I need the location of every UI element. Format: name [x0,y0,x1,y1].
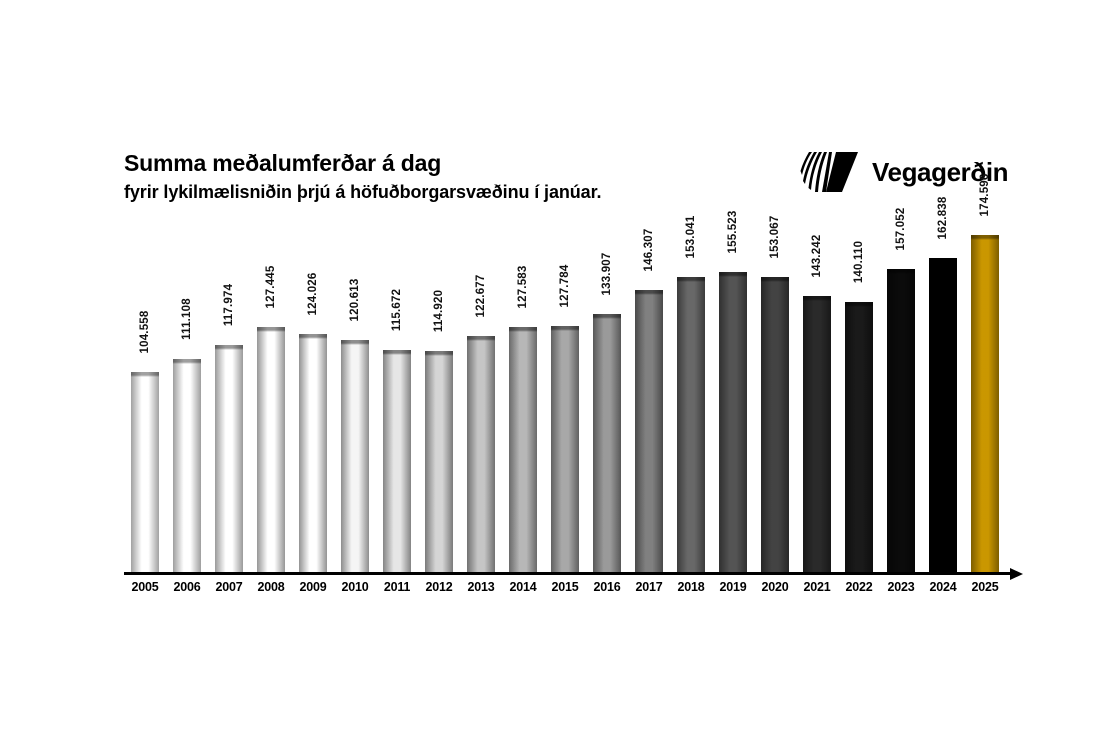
x-axis-label-2013: 2013 [460,580,502,594]
bar-value-label-2014: 127.583 [517,266,529,309]
x-axis-label-2019: 2019 [712,580,754,594]
bar-2013 [467,336,495,575]
bar-value-label-2011: 115.672 [391,289,403,331]
x-axis-label-2022: 2022 [838,580,880,594]
bar-group-2009: 124.026 [292,215,334,575]
bar-value-label-2016: 133.907 [601,253,613,296]
bar-value-label-2006: 111.108 [181,298,193,340]
bar-2007 [215,345,243,575]
x-axis-label-2017: 2017 [628,580,670,594]
bar-2009 [299,334,327,575]
bar-2022 [845,302,873,575]
chart-subtitle: fyrir lykilmælisniðin þrjú á höfuðborgar… [124,180,824,204]
bar-2012 [425,351,453,575]
bar-group-2014: 127.583 [502,215,544,575]
bar-2019 [719,272,747,575]
x-axis-label-2007: 2007 [208,580,250,594]
x-axis-label-2024: 2024 [922,580,964,594]
bar-group-2023: 157.052 [880,215,922,575]
x-axis-label-2016: 2016 [586,580,628,594]
bar-group-2008: 127.445 [250,215,292,575]
bar-2024 [929,258,957,575]
bar-group-2016: 133.907 [586,215,628,575]
bar-value-label-2015: 127.784 [559,265,571,308]
bar-value-label-2010: 120.613 [349,279,361,322]
bar-value-label-2005: 104.558 [139,311,151,354]
bar-group-2022: 140.110 [838,215,880,575]
x-axis-label-2009: 2009 [292,580,334,594]
bar-value-label-2017: 146.307 [643,229,655,272]
bar-2010 [341,340,369,575]
bar-value-label-2018: 153.041 [685,216,697,259]
bar-2020 [761,277,789,575]
x-axis-label-2023: 2023 [880,580,922,594]
bar-group-2012: 114.920 [418,215,460,575]
x-axis-label-2021: 2021 [796,580,838,594]
x-axis-label-2018: 2018 [670,580,712,594]
x-axis-label-2010: 2010 [334,580,376,594]
x-axis-labels: 2005200620072008200920102011201220132014… [124,580,1024,600]
x-axis-label-2011: 2011 [376,580,418,594]
x-axis-label-2005: 2005 [124,580,166,594]
bar-2016 [593,314,621,575]
bar-value-label-2012: 114.920 [433,290,445,332]
bar-group-2017: 146.307 [628,215,670,575]
bar-value-label-2023: 157.052 [895,208,907,251]
bar-2015 [551,326,579,575]
bar-value-label-2022: 140.110 [853,241,865,283]
bar-value-label-2009: 124.026 [307,273,319,316]
bars-layer: 104.558111.108117.974127.445124.026120.6… [124,215,1024,575]
bar-value-label-2025: 174.596 [979,174,991,217]
bar-group-2007: 117.974 [208,215,250,575]
bar-2005 [131,372,159,575]
bar-2017 [635,290,663,575]
chart-header: Summa meðalumferðar á dag fyrir lykilmæl… [124,150,824,204]
bar-group-2018: 153.041 [670,215,712,575]
bar-group-2010: 120.613 [334,215,376,575]
bar-value-label-2013: 122.677 [475,275,487,318]
x-axis-label-2008: 2008 [250,580,292,594]
vegagerdin-mark-icon [800,150,862,194]
bar-value-label-2007: 117.974 [223,284,235,326]
bar-value-label-2021: 143.242 [811,235,823,278]
chart-title: Summa meðalumferðar á dag [124,150,824,177]
bar-group-2015: 127.784 [544,215,586,575]
bar-value-label-2020: 153.067 [769,216,781,259]
brand-logo: Vegagerðin [800,150,1008,194]
x-axis-label-2012: 2012 [418,580,460,594]
bar-group-2011: 115.672 [376,215,418,575]
bar-group-2005: 104.558 [124,215,166,575]
bar-group-2006: 111.108 [166,215,208,575]
bar-2018 [677,277,705,575]
bar-group-2013: 122.677 [460,215,502,575]
bar-value-label-2008: 127.445 [265,266,277,309]
bar-2006 [173,359,201,575]
plot-area: 104.558111.108117.974127.445124.026120.6… [124,215,1024,575]
bar-value-label-2024: 162.838 [937,197,949,240]
x-axis-line [124,572,1012,575]
x-axis-label-2015: 2015 [544,580,586,594]
bar-2023 [887,269,915,575]
bar-group-2025: 174.596 [964,215,1006,575]
x-axis-arrow-icon [1010,568,1023,580]
x-axis-label-2025: 2025 [964,580,1006,594]
bar-2025 [971,235,999,575]
bar-group-2020: 153.067 [754,215,796,575]
bar-group-2021: 143.242 [796,215,838,575]
bar-2021 [803,296,831,575]
chart-container: Summa meðalumferðar á dag fyrir lykilmæl… [0,0,1095,730]
bar-2008 [257,327,285,575]
bar-2014 [509,327,537,575]
x-axis-label-2006: 2006 [166,580,208,594]
x-axis-label-2014: 2014 [502,580,544,594]
x-axis-label-2020: 2020 [754,580,796,594]
bar-value-label-2019: 155.523 [727,211,739,254]
bar-2011 [383,350,411,575]
bar-group-2019: 155.523 [712,215,754,575]
bar-group-2024: 162.838 [922,215,964,575]
